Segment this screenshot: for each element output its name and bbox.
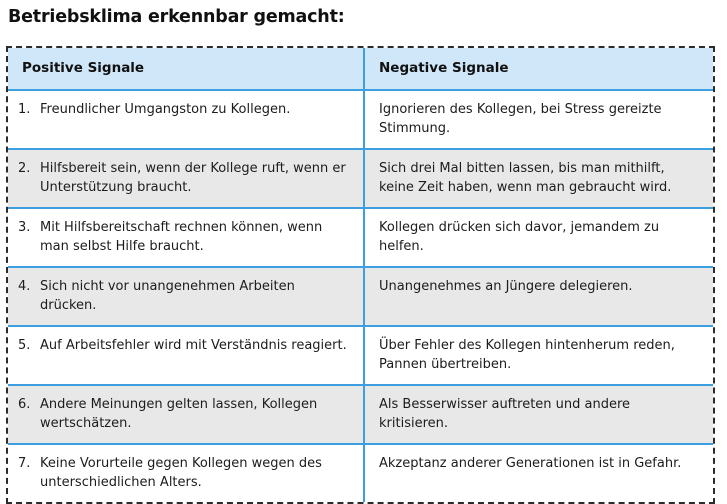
- cell-negative: Über Fehler des Kollegen hintenherum red…: [364, 326, 713, 385]
- item-number: 4.: [18, 277, 40, 296]
- item-text: Kollegen drücken sich davor, jemandem zu…: [379, 218, 699, 256]
- numbered-item: 6. Andere Meinungen gelten lassen, Kolle…: [18, 395, 349, 433]
- item-text: Sich drei Mal bitten lassen, bis man mit…: [379, 159, 699, 197]
- cell-negative: Sich drei Mal bitten lassen, bis man mit…: [364, 149, 713, 208]
- cell-positive: 5. Auf Arbeitsfehler wird mit Verständni…: [8, 326, 364, 385]
- item-number: 5.: [18, 336, 40, 355]
- column-header-positive: Positive Signale: [8, 48, 364, 90]
- table-row: 1. Freundlicher Umgangston zu Kollegen. …: [8, 90, 713, 149]
- numbered-item: 4. Sich nicht vor unangenehmen Arbeiten …: [18, 277, 349, 315]
- cell-negative: Unangenehmes an Jüngere delegieren.: [364, 267, 713, 326]
- cell-negative: Kollegen drücken sich davor, jemandem zu…: [364, 208, 713, 267]
- cell-positive: 1. Freundlicher Umgangston zu Kollegen.: [8, 90, 364, 149]
- item-text: Keine Vorurteile gegen Kollegen wegen de…: [40, 454, 349, 492]
- cell-positive: 6. Andere Meinungen gelten lassen, Kolle…: [8, 385, 364, 444]
- item-number: 1.: [18, 100, 40, 119]
- table-body: 1. Freundlicher Umgangston zu Kollegen. …: [8, 90, 713, 502]
- item-text: Akzeptanz anderer Generationen ist in Ge…: [379, 454, 699, 473]
- item-text: Ignorieren des Kollegen, bei Stress gere…: [379, 100, 699, 138]
- table-row: 4. Sich nicht vor unangenehmen Arbeiten …: [8, 267, 713, 326]
- item-text: Andere Meinungen gelten lassen, Kollegen…: [40, 395, 349, 433]
- item-text: Mit Hilfsbereitschaft rechnen können, we…: [40, 218, 349, 256]
- item-text: Hilfsbereit sein, wenn der Kollege ruft,…: [40, 159, 349, 197]
- cell-negative: Akzeptanz anderer Generationen ist in Ge…: [364, 444, 713, 502]
- item-text: Als Besserwisser auftreten und andere kr…: [379, 395, 699, 433]
- item-number: 3.: [18, 218, 40, 237]
- signals-table: Positive Signale Negative Signale 1. Fre…: [8, 48, 713, 502]
- item-number: 6.: [18, 395, 40, 414]
- cell-positive: 4. Sich nicht vor unangenehmen Arbeiten …: [8, 267, 364, 326]
- page-title: Betriebsklima erkennbar gemacht:: [8, 7, 345, 27]
- cell-positive: 2. Hilfsbereit sein, wenn der Kollege ru…: [8, 149, 364, 208]
- numbered-item: 5. Auf Arbeitsfehler wird mit Verständni…: [18, 336, 349, 355]
- cell-positive: 3. Mit Hilfsbereitschaft rechnen können,…: [8, 208, 364, 267]
- table-row: 6. Andere Meinungen gelten lassen, Kolle…: [8, 385, 713, 444]
- table-header: Positive Signale Negative Signale: [8, 48, 713, 90]
- item-text: Freundlicher Umgangston zu Kollegen.: [40, 100, 349, 119]
- item-text: Sich nicht vor unangenehmen Arbeiten drü…: [40, 277, 349, 315]
- column-header-negative: Negative Signale: [364, 48, 713, 90]
- table-row: 5. Auf Arbeitsfehler wird mit Verständni…: [8, 326, 713, 385]
- numbered-item: 2. Hilfsbereit sein, wenn der Kollege ru…: [18, 159, 349, 197]
- numbered-item: 7. Keine Vorurteile gegen Kollegen wegen…: [18, 454, 349, 492]
- cell-negative: Ignorieren des Kollegen, bei Stress gere…: [364, 90, 713, 149]
- table-row: 7. Keine Vorurteile gegen Kollegen wegen…: [8, 444, 713, 502]
- item-text: Auf Arbeitsfehler wird mit Verständnis r…: [40, 336, 349, 355]
- table-row: 3. Mit Hilfsbereitschaft rechnen können,…: [8, 208, 713, 267]
- cell-positive: 7. Keine Vorurteile gegen Kollegen wegen…: [8, 444, 364, 502]
- header-row: Positive Signale Negative Signale: [8, 48, 713, 90]
- item-number: 2.: [18, 159, 40, 178]
- page-root: Betriebsklima erkennbar gemacht: Positiv…: [0, 0, 727, 485]
- cell-negative: Als Besserwisser auftreten und andere kr…: [364, 385, 713, 444]
- item-text: Unangenehmes an Jüngere delegieren.: [379, 277, 699, 296]
- item-number: 7.: [18, 454, 40, 473]
- item-text: Über Fehler des Kollegen hintenherum red…: [379, 336, 699, 374]
- numbered-item: 3. Mit Hilfsbereitschaft rechnen können,…: [18, 218, 349, 256]
- signals-table-container: Positive Signale Negative Signale 1. Fre…: [6, 46, 715, 504]
- table-row: 2. Hilfsbereit sein, wenn der Kollege ru…: [8, 149, 713, 208]
- numbered-item: 1. Freundlicher Umgangston zu Kollegen.: [18, 100, 349, 119]
